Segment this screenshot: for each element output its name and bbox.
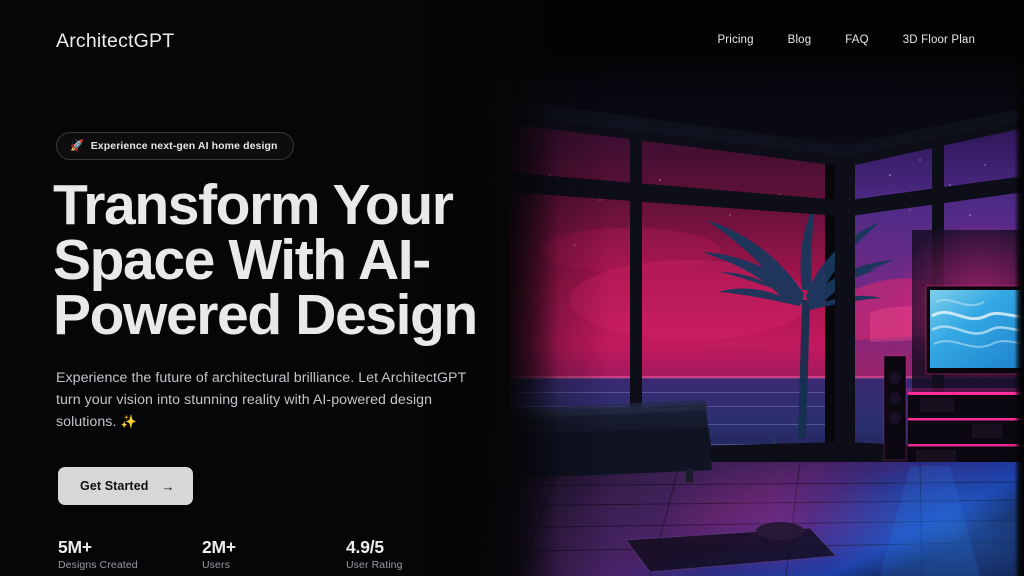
nav-link-blog[interactable]: Blog bbox=[771, 34, 829, 46]
brand-logo[interactable]: ArchitectGPT bbox=[56, 30, 174, 53]
stat-label: Users bbox=[202, 559, 346, 571]
get-started-label: Get Started bbox=[80, 479, 148, 493]
nav-link-faq[interactable]: FAQ bbox=[828, 34, 885, 46]
stat-value: 4.9/5 bbox=[346, 536, 490, 558]
rocket-icon: 🚀 bbox=[70, 141, 84, 152]
hero-stats: 5M+ Designs Created 2M+ Users 4.9/5 User… bbox=[58, 536, 490, 571]
hero-badge[interactable]: 🚀 Experience next-gen AI home design bbox=[56, 132, 294, 160]
hero-artwork bbox=[480, 0, 1024, 576]
hero-description: Experience the future of architectural b… bbox=[56, 368, 466, 434]
main-navigation: Pricing Blog FAQ 3D Floor Plan bbox=[700, 34, 992, 46]
stat-label: User Rating bbox=[346, 559, 490, 571]
sparkles-icon: ✨ bbox=[120, 414, 136, 429]
landing-page: ArchitectGPT Pricing Blog FAQ 3D Floor P… bbox=[0, 0, 1024, 576]
nav-link-3d-floor-plan[interactable]: 3D Floor Plan bbox=[886, 34, 992, 46]
stat-value: 2M+ bbox=[202, 536, 346, 558]
hero-badge-label: Experience next-gen AI home design bbox=[91, 140, 278, 152]
get-started-button[interactable]: Get Started → bbox=[58, 467, 193, 505]
stat-label: Designs Created bbox=[58, 559, 202, 571]
stat-users: 2M+ Users bbox=[202, 536, 346, 571]
nav-link-pricing[interactable]: Pricing bbox=[700, 34, 770, 46]
arrow-right-icon: → bbox=[161, 480, 174, 493]
site-header: ArchitectGPT Pricing Blog FAQ 3D Floor P… bbox=[0, 0, 1024, 62]
stat-designs-created: 5M+ Designs Created bbox=[58, 536, 202, 571]
stat-value: 5M+ bbox=[58, 536, 202, 558]
hero-description-text: Experience the future of architectural b… bbox=[56, 370, 466, 430]
page-title: Transform Your Space With AI-Powered Des… bbox=[53, 178, 493, 343]
stat-user-rating: 4.9/5 User Rating bbox=[346, 536, 490, 571]
